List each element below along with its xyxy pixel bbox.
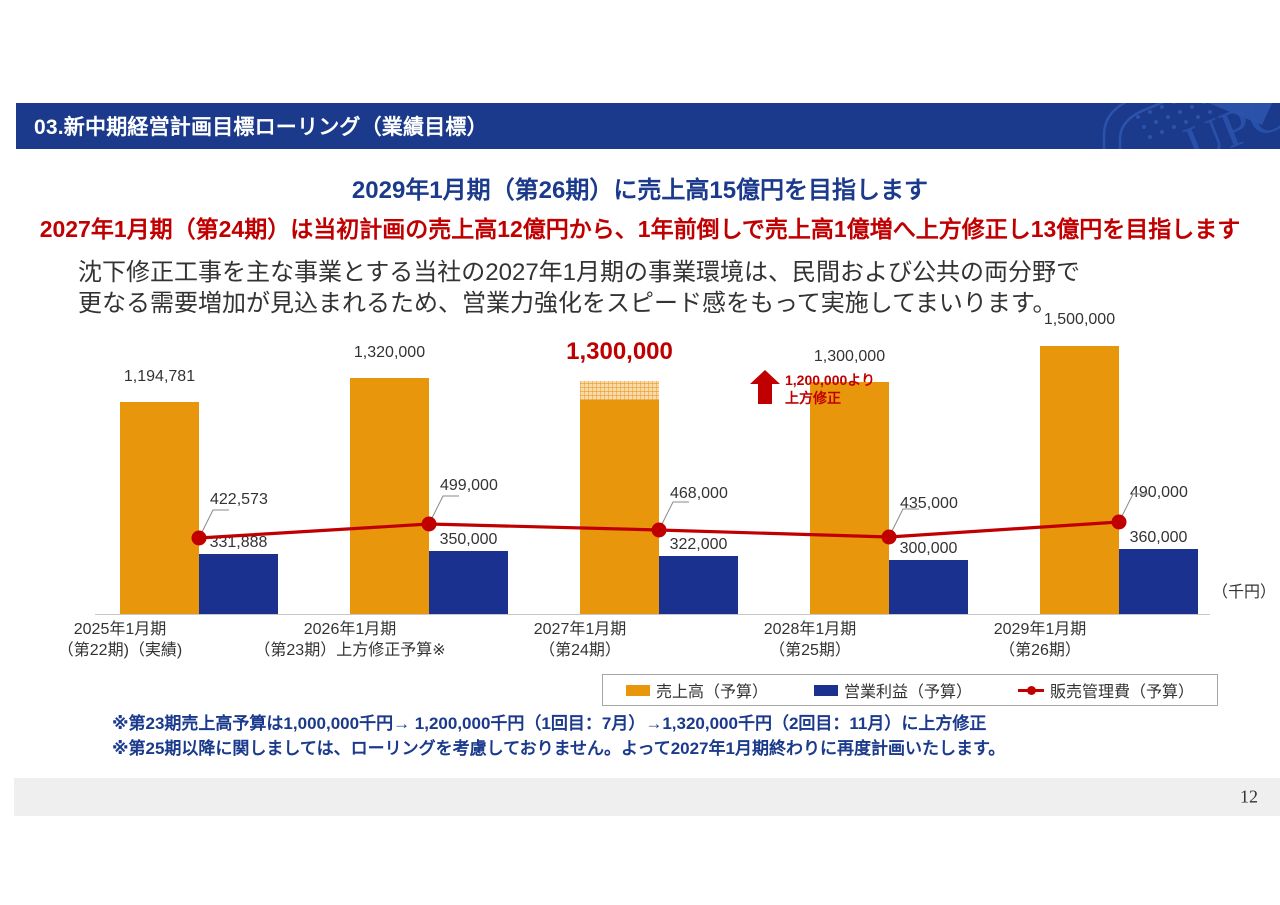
profit-bar-1 bbox=[429, 551, 508, 614]
legend-swatch-sales-icon bbox=[626, 685, 650, 696]
chart-group-1: 1,320,000 350,000 499,000 bbox=[350, 330, 508, 614]
footnote-2: ※第25期以降に関しましては、ローリングを考慮しておりません。よって2027年1… bbox=[112, 737, 1005, 762]
up-arrow-icon bbox=[750, 370, 780, 404]
legend-item-operating-profit[interactable]: 営業利益（予算） bbox=[814, 678, 972, 702]
header-band: UPC 03.新中期経営計画目標ローリング（業績目標） bbox=[16, 103, 1280, 149]
revision-note-line-2: 上方修正 bbox=[785, 390, 875, 408]
legend-item-sales[interactable]: 売上高（予算） bbox=[626, 678, 768, 702]
x-axis-label-1-line-1: 2026年1月期 bbox=[235, 620, 465, 641]
page-number: 12 bbox=[1240, 787, 1258, 808]
x-axis-label-2-line-1: 2027年1月期 bbox=[465, 620, 695, 641]
x-axis-label-3: 2028年1月期 （第25期） bbox=[695, 620, 925, 662]
sga-value-label-0: 422,573 bbox=[210, 491, 268, 509]
profit-bar-2 bbox=[659, 556, 738, 614]
sales-value-label-3: 1,300,000 bbox=[810, 348, 889, 366]
sales-bar-1 bbox=[350, 378, 429, 614]
legend-item-sga[interactable]: 販売管理費（予算） bbox=[1018, 678, 1194, 702]
sga-value-label-4: 490,000 bbox=[1130, 484, 1188, 502]
sales-bar-3 bbox=[810, 382, 889, 614]
headline-secondary: 2027年1月期（第24期）は当初計画の売上高12億円から、1年前倒しで売上高1… bbox=[0, 210, 1280, 244]
body-line-1: 沈下修正工事を主な事業とする当社の2027年1月期の事業環境は、民間および公共の… bbox=[78, 258, 1218, 289]
x-axis-label-3-line-2: （第25期） bbox=[695, 641, 925, 662]
sga-value-label-1: 499,000 bbox=[440, 477, 498, 495]
revision-annotation: 1,200,000より 上方修正 bbox=[785, 372, 875, 407]
legend-label-sales: 売上高（予算） bbox=[656, 678, 768, 702]
footnote-1: ※第23期売上高予算は1,000,000千円→ 1,200,000千円（1回目：… bbox=[112, 712, 1005, 737]
chart-group-0: 1,194,781 331,888 422,573 bbox=[120, 330, 278, 614]
x-axis-label-0-line-2: （第22期)（実績) bbox=[5, 641, 235, 662]
x-axis-label-4-line-2: （第26期） bbox=[925, 641, 1155, 662]
headline-primary: 2029年1月期（第26期）に売上高15億円を目指します bbox=[0, 170, 1280, 205]
chart-group-4: 1,500,000 360,000 490,000 bbox=[1040, 330, 1198, 614]
legend-label-operating-profit: 営業利益（予算） bbox=[844, 678, 972, 702]
profit-value-label-1: 350,000 bbox=[429, 531, 508, 549]
sales-value-label-2: 1,300,000 bbox=[552, 338, 687, 366]
chart-baseline bbox=[95, 614, 1210, 615]
slide: UPC 03.新中期経営計画目標ローリング（業績目標） 2029年1月期（第26… bbox=[0, 0, 1280, 905]
profit-bar-0 bbox=[199, 554, 278, 614]
sales-value-label-0: 1,194,781 bbox=[120, 368, 199, 386]
x-axis-label-2-line-2: （第24期） bbox=[465, 641, 695, 662]
sga-value-label-2: 468,000 bbox=[670, 485, 728, 503]
x-axis-label-1: 2026年1月期 （第23期）上方修正予算※ bbox=[235, 620, 465, 662]
profit-bar-4 bbox=[1119, 549, 1198, 614]
profit-value-label-4: 360,000 bbox=[1119, 529, 1198, 547]
sales-bar-4 bbox=[1040, 346, 1119, 614]
x-axis-label-4-line-1: 2029年1月期 bbox=[925, 620, 1155, 641]
footnotes: ※第23期売上高予算は1,000,000千円→ 1,200,000千円（1回目：… bbox=[112, 712, 1005, 761]
x-axis-label-1-line-2: （第23期）上方修正予算※ bbox=[235, 641, 465, 662]
profit-value-label-3: 300,000 bbox=[889, 540, 968, 558]
sales-bar-0 bbox=[120, 402, 199, 614]
legend-swatch-sga-icon bbox=[1018, 684, 1044, 696]
sales-value-label-4: 1,500,000 bbox=[1040, 311, 1119, 329]
sga-value-label-3: 435,000 bbox=[900, 495, 958, 513]
revision-note-line-1: 1,200,000より bbox=[785, 372, 875, 390]
sales-revision-band-2 bbox=[580, 381, 659, 400]
profit-value-label-0: 331,888 bbox=[199, 534, 278, 552]
chart-legend: 売上高（予算） 営業利益（予算） 販売管理費（予算） bbox=[602, 674, 1218, 706]
profit-value-label-2: 322,000 bbox=[659, 536, 738, 554]
legend-swatch-operating-profit-icon bbox=[814, 685, 838, 696]
svg-text:UPC: UPC bbox=[1177, 103, 1280, 149]
upc-logo-watermark: UPC bbox=[1076, 103, 1280, 149]
sales-value-label-1: 1,320,000 bbox=[350, 344, 429, 362]
profit-bar-3 bbox=[889, 560, 968, 614]
x-axis-label-4: 2029年1月期 （第26期） bbox=[925, 620, 1155, 662]
performance-chart: 1,194,781 331,888 422,573 1,320,000 350,… bbox=[95, 330, 1210, 615]
legend-label-sga: 販売管理費（予算） bbox=[1050, 678, 1194, 702]
x-axis-label-3-line-1: 2028年1月期 bbox=[695, 620, 925, 641]
chart-unit-label: （千円） bbox=[1212, 578, 1276, 602]
page-title: 03.新中期経営計画目標ローリング（業績目標） bbox=[34, 111, 488, 141]
footer-bar: 12 bbox=[14, 778, 1280, 816]
x-axis-label-2: 2027年1月期 （第24期） bbox=[465, 620, 695, 662]
sales-bar-2 bbox=[580, 400, 659, 614]
x-axis-label-0-line-1: 2025年1月期 bbox=[5, 620, 235, 641]
chart-group-2: 1,300,000 322,000 468,000 bbox=[580, 330, 738, 614]
x-axis-label-0: 2025年1月期 （第22期)（実績) bbox=[5, 620, 235, 662]
